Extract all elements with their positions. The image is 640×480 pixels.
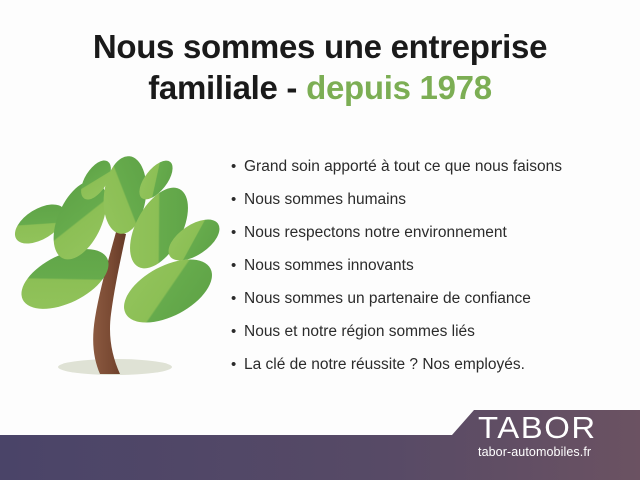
list-item: • Grand soin apporté à tout ce que nous … [231,150,631,183]
slide-canvas: Nous sommes une entreprise familiale -de… [0,0,640,480]
title-accent-year: depuis 1978 [306,69,492,106]
list-item-label: Nous sommes un partenaire de confiance [244,282,531,315]
list-item: • Nous sommes humains [231,183,631,216]
list-item-label: Nous sommes humains [244,183,406,216]
bullet-icon: • [231,150,244,183]
title-line-2: familiale -depuis 1978 [0,67,640,108]
list-item-label: Nous sommes innovants [244,249,414,282]
bullet-icon: • [231,183,244,216]
list-item: • Nous respectons notre environnement [231,216,631,249]
bullet-icon: • [231,315,244,348]
list-item-label: Nous et notre région sommes liés [244,315,475,348]
logo-wordmark: TABOR [478,411,640,444]
list-item: • Nous sommes un partenaire de confiance [231,282,631,315]
bullet-icon: • [231,282,244,315]
bullet-list: • Grand soin apporté à tout ce que nous … [231,150,631,381]
bullet-icon: • [231,249,244,282]
list-item-label: Grand soin apporté à tout ce que nous fa… [244,150,562,183]
list-item: • La clé de notre réussite ? Nos employé… [231,348,631,381]
bullet-icon: • [231,216,244,249]
list-item-label: La clé de notre réussite ? Nos employés. [244,348,525,381]
list-item: • Nous et notre région sommes liés [231,315,631,348]
bullet-icon: • [231,348,244,381]
page-title: Nous sommes une entreprise familiale -de… [0,26,640,108]
title-line-1: Nous sommes une entreprise [0,26,640,67]
title-line-2-main: familiale - [148,69,297,106]
leaf [114,246,222,335]
tree-illustration [8,148,223,388]
brand-logo[interactable]: TABOR tabor-automobiles.fr [478,411,640,471]
logo-tagline: tabor-automobiles.fr [478,444,640,460]
list-item-label: Nous respectons notre environnement [244,216,507,249]
list-item: • Nous sommes innovants [231,249,631,282]
